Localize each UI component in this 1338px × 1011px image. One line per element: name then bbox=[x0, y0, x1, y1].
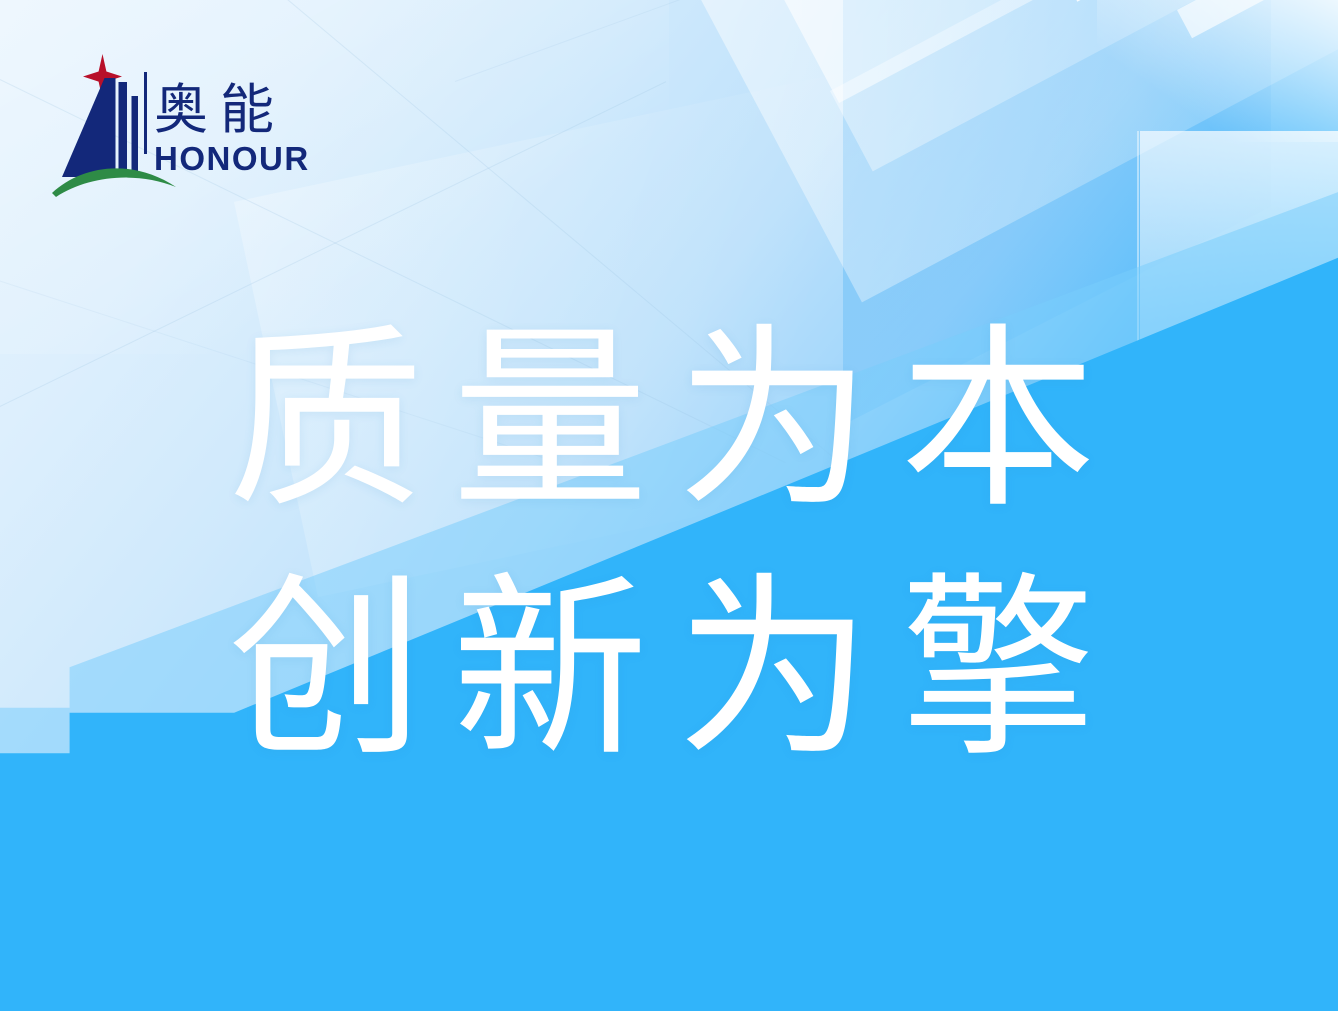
arch-edge-1 bbox=[1044, 0, 1338, 2]
arch-band-2 bbox=[763, 0, 1338, 102]
headline-block: 质量为本 创新为擎 bbox=[228, 300, 1158, 790]
headline-line-1: 质量为本 bbox=[228, 300, 1158, 541]
arch-band-3 bbox=[830, 0, 1338, 171]
slogan-poster: 奥能 HONOUR 质量为本 创新为擎 bbox=[0, 0, 1338, 1011]
honour-logo: 奥能 HONOUR bbox=[52, 52, 314, 202]
arch-band-1 bbox=[615, 0, 1338, 302]
headline-line-2: 创新为擎 bbox=[228, 549, 1158, 790]
arch-corner-glow bbox=[1097, 0, 1338, 142]
arch-panel-light bbox=[1140, 131, 1338, 424]
logo-divider bbox=[144, 72, 147, 154]
hairline-4 bbox=[455, 0, 958, 82]
arch-edge-2 bbox=[1177, 0, 1338, 39]
a-mark-icon bbox=[62, 78, 138, 177]
logo-chinese-text: 奥能 bbox=[154, 78, 286, 141]
arch-panel-lower bbox=[1140, 404, 1338, 546]
logo-latin-text: HONOUR bbox=[154, 140, 310, 177]
